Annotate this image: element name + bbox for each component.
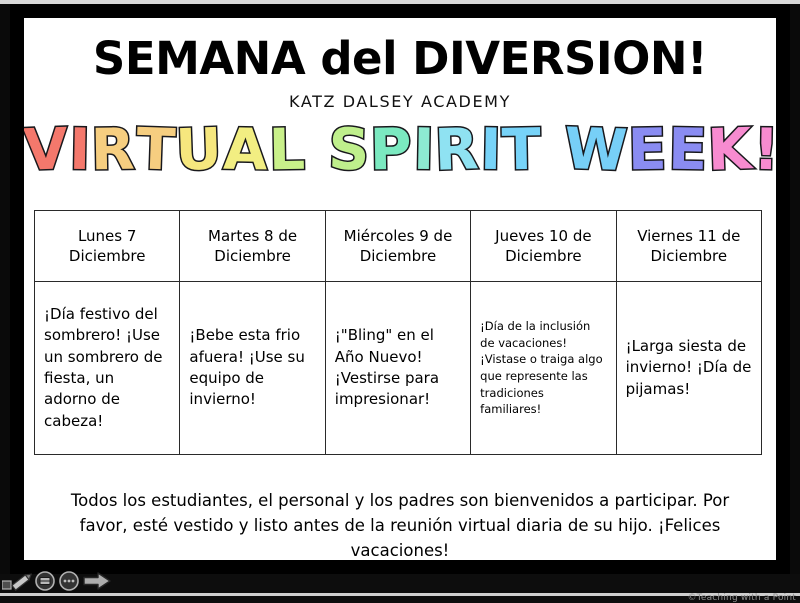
page-title: SEMANA del DIVERSION! [24,36,776,81]
banner-letter-8: S [327,121,371,179]
calendar-header-cell-3: Jueves 10 de Diciembre [471,211,616,282]
banner-letter-4: U [175,121,224,180]
banner-letter-5: A [223,122,269,180]
calendar-activity-cell-4: ¡Larga siesta de invierno! ¡Día de pijam… [616,282,761,455]
footnote-text: Todos los estudiantes, el personal y los… [58,488,742,560]
banner-letter-18: K [706,121,753,180]
calendar-header-cell-2: Miércoles 9 de Diciembre [325,211,470,282]
slide-viewer: SEMANA del DIVERSION! KATZ DALSEY ACADEM… [0,0,800,603]
banner-letter-16: E [627,122,668,180]
calendar-header-cell-0: Lunes 7 Diciembre [35,211,180,282]
calendar-activity-cell-1: ¡Bebe esta frio afuera! ¡Use su equipo d… [180,282,325,455]
eraser-tool-icon[interactable] [34,571,56,595]
toolbar-tools [2,571,112,595]
more-options-icon[interactable] [58,571,80,595]
viewer-toolbar: ©Teaching with a Point [0,574,800,603]
calendar-activity-cell-3: ¡Día de la inclusión de vacaciones! ¡Vis… [471,282,616,455]
calendar-header-row: Lunes 7 DiciembreMartes 8 de DiciembreMi… [35,211,762,282]
school-name: KATZ DALSEY ACADEMY [24,94,776,110]
banner-letter-1: I [69,122,92,179]
banner-letter-17: E [667,122,708,180]
banner-letter-10: I [412,122,435,179]
banner-letter-6: L [268,122,306,180]
banner-letter-0: V [24,121,70,180]
banner-letter-2: R [91,122,137,180]
poster-sheet: SEMANA del DIVERSION! KATZ DALSEY ACADEM… [24,18,776,560]
calendar-activity-cell-0: ¡Día festivo del sombrero! ¡Use un sombr… [35,282,180,455]
calendar-header-cell-1: Martes 8 de Diciembre [180,211,325,282]
rainbow-banner: VIRTUALSPIRITWEEK! [24,122,776,179]
banner-letter-11: R [434,121,481,180]
poster-frame: SEMANA del DIVERSION! KATZ DALSEY ACADEM… [10,4,790,574]
calendar-header-cell-4: Viernes 11 de Diciembre [616,211,761,282]
calendar-activity-cell-2: ¡"Bling" en el Año Nuevo! ¡Vestirse para… [325,282,470,455]
banner-letter-13: T [501,122,542,180]
banner-letter-19: ! [753,122,776,179]
toolbar-rule [0,593,800,596]
watermark: ©Teaching with a Point [687,593,796,603]
pen-tool-icon[interactable] [2,573,32,595]
next-arrow-icon[interactable] [82,571,112,595]
banner-letter-3: T [136,121,178,179]
banner-letter-12: I [480,122,503,179]
spirit-week-calendar: Lunes 7 DiciembreMartes 8 de DiciembreMi… [34,210,762,455]
banner-letter-9: P [369,122,413,180]
calendar-body-row: ¡Día festivo del sombrero! ¡Use un sombr… [35,282,762,455]
banner-letter-15: W [563,121,629,180]
